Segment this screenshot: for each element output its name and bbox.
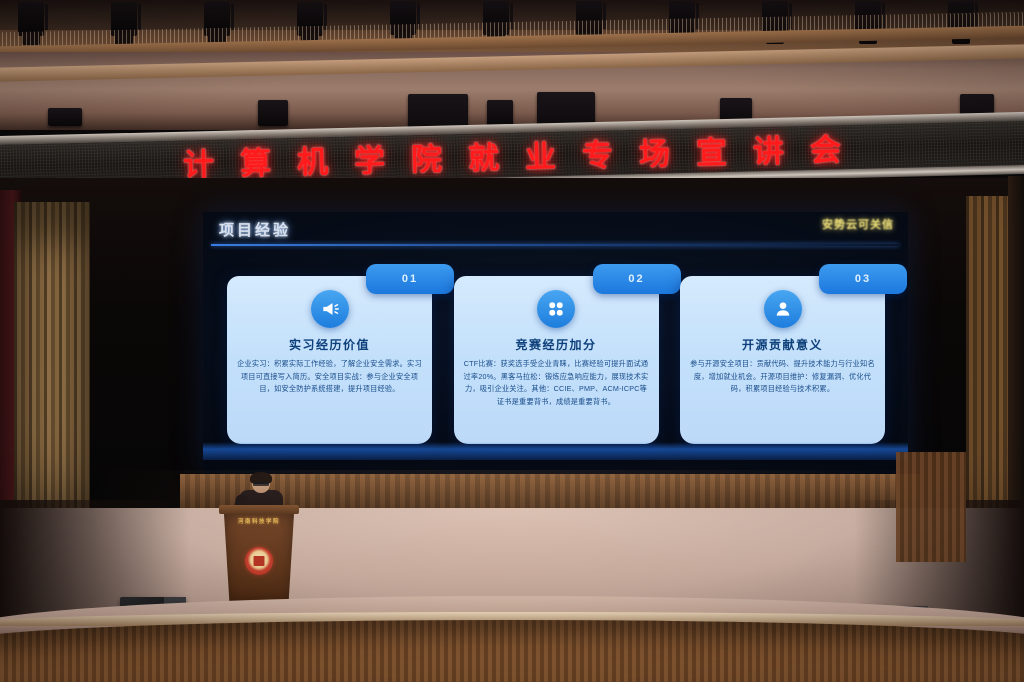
- slide-title: 项目经验: [219, 219, 291, 240]
- slide-card: 02竞赛经历加分CTF比赛：获奖选手受企业青睐，比赛经验可提升面试通过率20%。…: [454, 276, 659, 444]
- glasses-icon: [253, 482, 269, 486]
- ceiling-speaker: [487, 100, 513, 126]
- card-body-text: 企业实习：积累实际工作经验，了解企业安全需求。实习项目可直接写入简历。安全项目实…: [237, 358, 422, 396]
- truss-arm: [231, 4, 234, 30]
- truss-arm: [138, 4, 141, 30]
- person-icon: [764, 290, 802, 328]
- truss-arm: [45, 4, 48, 30]
- projection-screen: 项目经验 安势云可关信 · · · · · · · · 01实习经历价值企业实习…: [203, 212, 908, 474]
- wood-panel-right: [896, 452, 966, 562]
- slide-card: 03开源贡献意义参与开源安全项目：贡献代码、提升技术能力与行业知名度，增加就业机…: [680, 276, 885, 444]
- card-body-text: CTF比赛：获奖选手受企业青睐，比赛经验可提升面试通过率20%。黑客马拉松：锻炼…: [464, 358, 649, 408]
- slide-surface: 项目经验 安势云可关信 · · · · · · · · 01实习经历价值企业实习…: [203, 212, 908, 474]
- ceiling-speaker: [48, 108, 82, 126]
- stage-apron-wood: [0, 620, 1024, 682]
- card-title: 竞赛经历加分: [454, 336, 659, 353]
- podium: 河南科技学院: [219, 505, 299, 605]
- lecture-hall-photo: 计算机学院就业专场宣讲会 项目经验 安势云可关信 · · · · · · · ·…: [0, 0, 1024, 682]
- slide-card: 01实习经历价值企业实习：积累实际工作经验，了解企业安全需求。实习项目可直接写入…: [227, 276, 432, 444]
- institution-emblem-icon: [245, 547, 273, 575]
- brand-logo-subtext: · · · · · · · ·: [833, 227, 892, 233]
- card-title: 实习经历价值: [227, 336, 432, 353]
- podium-institution-text: 河南科技学院: [219, 517, 299, 525]
- podium-top: [219, 505, 299, 514]
- card-body-text: 参与开源安全项目：贡献代码、提升技术能力与行业知名度，增加就业机会。开源项目维护…: [690, 358, 875, 396]
- ceiling-speaker: [258, 100, 288, 126]
- megaphone-icon: [311, 290, 349, 328]
- card-number-badge: 02: [593, 264, 681, 294]
- slide-bottom-band: [203, 442, 908, 460]
- card-number-badge: 01: [366, 264, 454, 294]
- slide-title-underline: [211, 244, 899, 246]
- slide-card-row: 01实习经历价值企业实习：积累实际工作经验，了解企业安全需求。实习项目可直接写入…: [227, 276, 885, 444]
- card-number-badge: 03: [819, 264, 907, 294]
- grid-clover-icon: [537, 290, 575, 328]
- card-title: 开源贡献意义: [680, 336, 885, 353]
